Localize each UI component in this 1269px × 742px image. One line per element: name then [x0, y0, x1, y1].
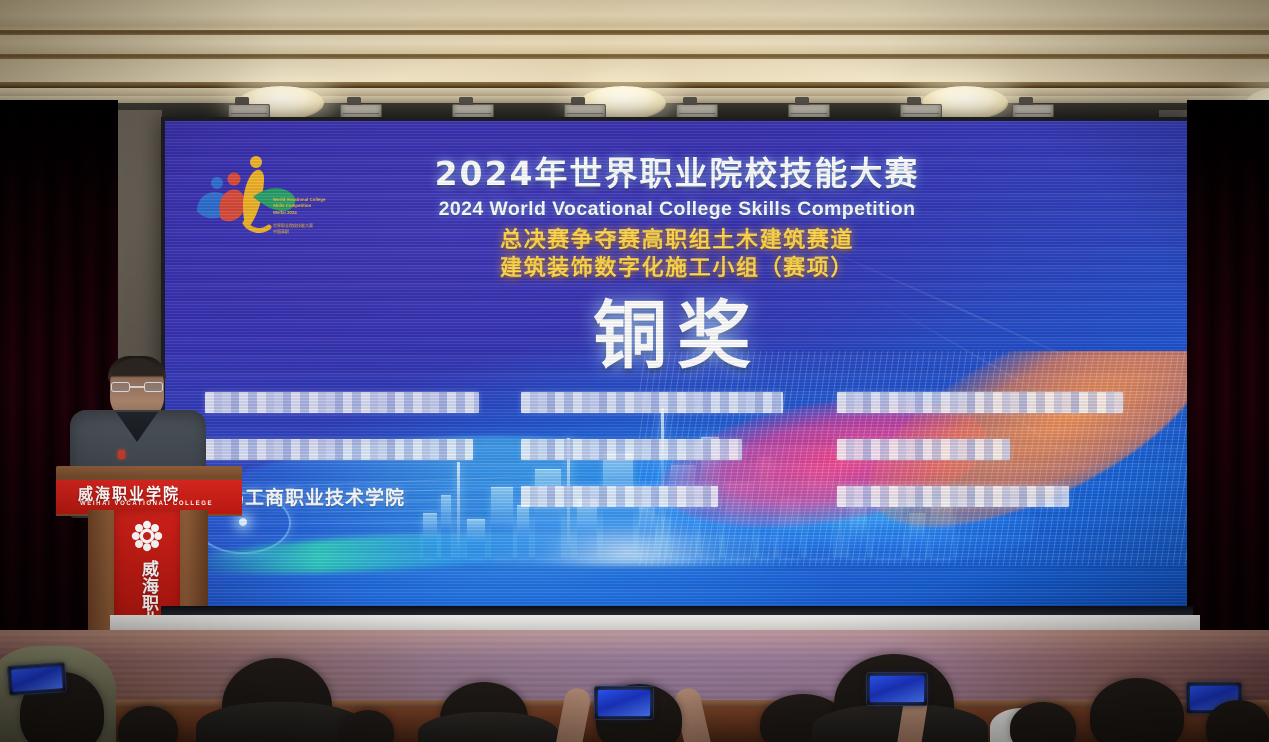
glasses-icon: [111, 382, 163, 392]
title-block: 2024年世界职业院校技能大赛 2024 World Vocational Co…: [165, 147, 1189, 283]
redacted-name: [837, 486, 1069, 507]
winners-row: [205, 426, 1153, 473]
podium-and-speaker: 威海职业学院 WEIHAI VOCATIONAL COLLEGE 威海职业: [62, 358, 242, 638]
stage-photograph: World Vocational College Skills Competit…: [0, 0, 1269, 742]
stage-curtain-right: [1187, 100, 1269, 645]
redacted-name: [521, 392, 783, 413]
title-chinese: 2024年世界职业院校技能大赛: [165, 147, 1189, 195]
winner-cell: [837, 486, 1153, 507]
redacted-name: [205, 439, 473, 460]
stage-front-face: [0, 708, 1269, 742]
winner-cell: [521, 392, 837, 413]
redacted-name: [837, 392, 1123, 413]
winners-row: 义乌工商职业技术学院: [205, 473, 1153, 520]
ceiling-beam: [0, 30, 1269, 35]
winner-cell: [521, 439, 837, 460]
redacted-name: [521, 439, 742, 460]
flower-emblem-icon: [131, 520, 163, 552]
winners-row: [205, 379, 1153, 426]
winner-cell: [205, 392, 521, 413]
winner-cell: 义乌工商职业技术学院: [205, 483, 521, 510]
podium-text-en: WEIHAI VOCATIONAL COLLEGE: [80, 501, 213, 507]
ceiling-beam: [0, 54, 1269, 59]
subtitle-line-1: 总决赛争夺赛高职组土木建筑赛道: [165, 227, 1189, 255]
led-screen: World Vocational College Skills Competit…: [165, 121, 1189, 606]
title-english: 2024 World Vocational College Skills Com…: [165, 198, 1189, 221]
lapel-pin: [118, 450, 125, 459]
winner-cell: [521, 486, 837, 507]
winner-cell: [205, 439, 521, 460]
wooden-ceiling: [0, 0, 1269, 86]
winner-cell: [837, 439, 1153, 460]
redacted-name: [205, 392, 479, 413]
winner-cell: [837, 392, 1153, 413]
redacted-name: [837, 439, 1010, 460]
led-screen-frame: World Vocational College Skills Competit…: [161, 117, 1193, 610]
redacted-name: [521, 486, 718, 507]
winners-list: 义乌工商职业技术学院: [205, 379, 1153, 520]
award-label: 铜奖: [165, 276, 1189, 383]
